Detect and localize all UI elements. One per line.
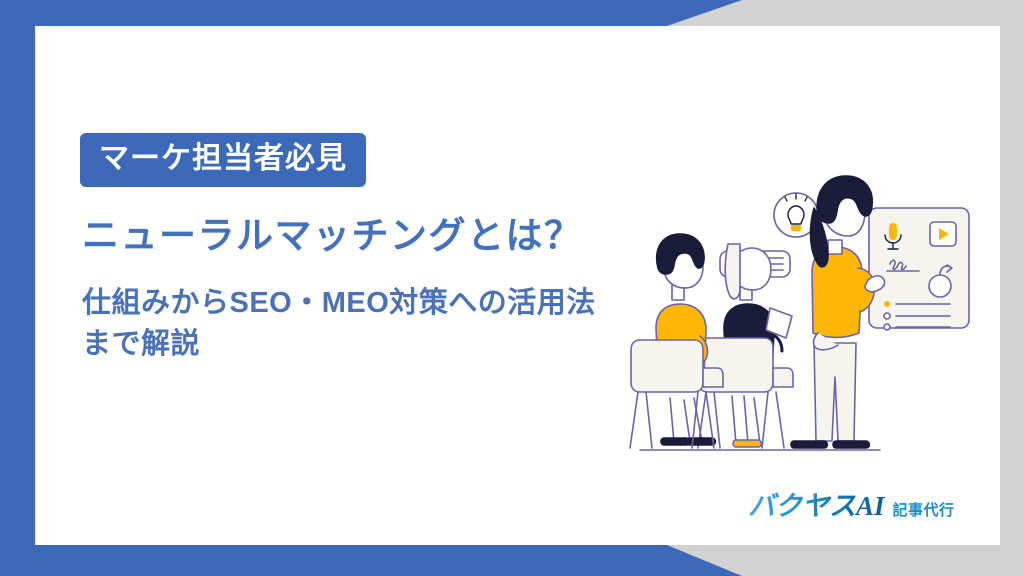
page-subtitle-line-2: まで解説 (82, 324, 657, 365)
page-subtitle: 仕組みからSEO・MEO対策への活用法 まで解説 (82, 283, 657, 365)
slide-canvas: マーケ担当者必見 ニューラルマッチングとは？ 仕組みからSEO・MEO対策への活… (0, 0, 1024, 576)
page-title: ニューラルマッチングとは？ (82, 214, 583, 258)
audience-badge: マーケ担当者必見 (80, 133, 366, 187)
brand-logo: バクヤスAI 記事代行 (748, 484, 955, 523)
presentation-illustration (628, 168, 980, 470)
whiteboard-panel (869, 208, 969, 330)
play-button-icon (930, 222, 956, 246)
brand-logo-name: バクヤスAI (748, 484, 885, 523)
page-subtitle-line-1: 仕組みからSEO・MEO対策への活用法 (82, 283, 657, 324)
brand-logo-tagline: 記事代行 (893, 499, 955, 520)
